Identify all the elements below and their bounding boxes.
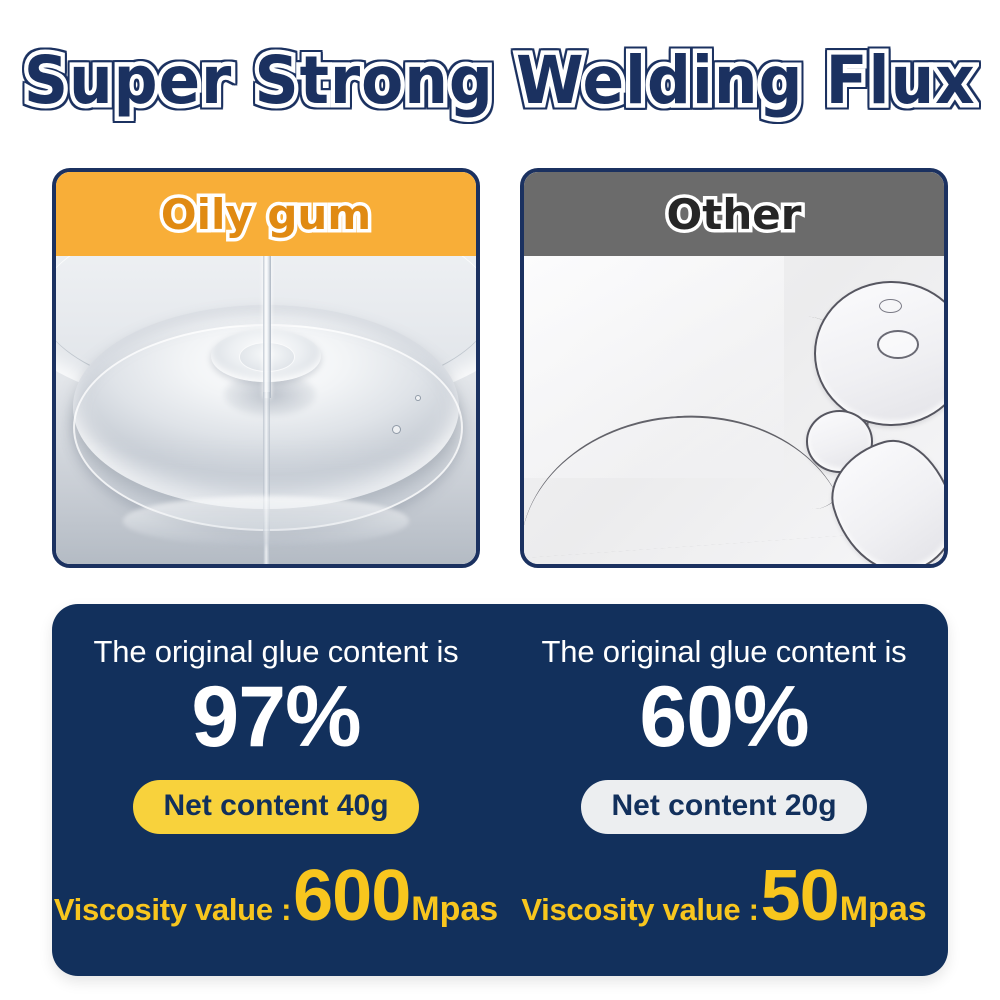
panel-other: Other	[520, 168, 948, 568]
glue-content-caption-left: The original glue content is	[94, 634, 459, 670]
stats-column-oily-gum: The original glue content is 97% Net con…	[52, 604, 500, 976]
viscosity-row-right: Viscosity value : 50 Mpas	[521, 860, 926, 932]
viscosity-value-left: 600	[293, 860, 410, 932]
panel-label-oily-gum: Oily gum	[161, 190, 371, 239]
viscosity-unit-right: Mpas	[840, 890, 927, 929]
net-content-badge-left: Net content 40g	[133, 780, 418, 834]
viscosity-unit-left: Mpas	[411, 890, 498, 929]
thick-clear-gel-disc-photo	[56, 256, 476, 564]
gel-bubble	[415, 395, 421, 401]
stats-card: The original glue content is 97% Net con…	[52, 604, 948, 976]
viscosity-label-right: Viscosity value :	[521, 892, 758, 928]
panel-header-oily-gum: Oily gum	[56, 172, 476, 256]
viscosity-value-right: 50	[761, 860, 839, 932]
liquid-droplet-inner-ring	[877, 330, 919, 359]
net-content-badge-right: Net content 20g	[581, 780, 866, 834]
comparison-row: Oily gum Other	[52, 168, 948, 568]
panel-header-other: Other	[524, 172, 944, 256]
stats-column-other: The original glue content is 60% Net con…	[500, 604, 948, 976]
gel-base-ripple	[123, 496, 409, 545]
page-title: ❮ Super Strong Welding Flux ❯	[0, 34, 1000, 126]
thin-runny-liquid-droplets-photo	[524, 256, 944, 564]
glue-content-caption-right: The original glue content is	[542, 634, 907, 670]
glue-content-percent-right: 60%	[639, 674, 808, 762]
viscosity-label-left: Viscosity value :	[54, 892, 291, 928]
glue-content-percent-left: 97%	[191, 674, 360, 762]
panel-label-other: Other	[667, 190, 802, 239]
title-label: Super Strong Welding Flux	[24, 42, 976, 119]
viscosity-row-left: Viscosity value : 600 Mpas	[54, 860, 498, 932]
panel-oily-gum: Oily gum	[52, 168, 480, 568]
gel-pour-stream	[263, 256, 271, 398]
